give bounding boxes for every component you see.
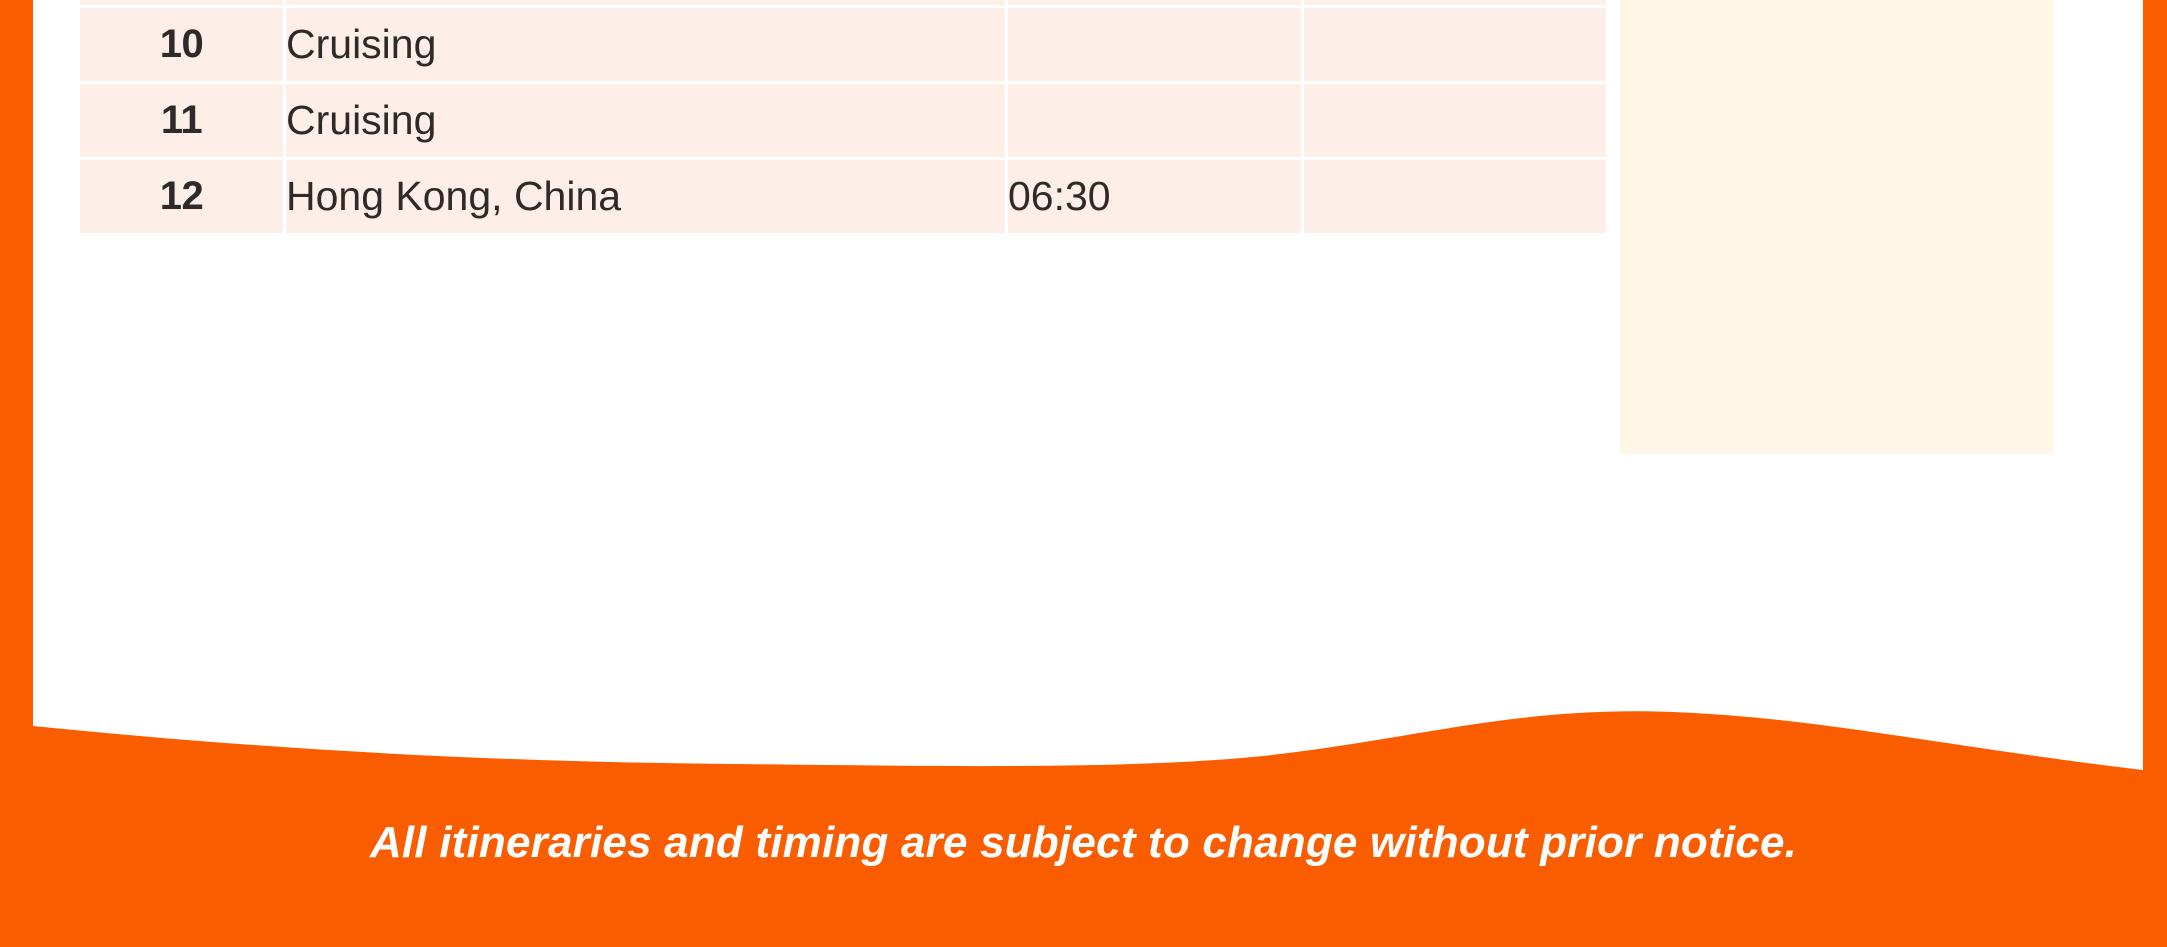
itinerary-table: 7 Kanazawa, Japan 08:00 19:00 8 Cruising… (80, 0, 1606, 233)
table-row[interactable]: 9 Sasebo, Japan 08:00 18:00 (80, 0, 1606, 8)
cell-arrival (1008, 84, 1304, 160)
cell-departure (1304, 8, 1606, 84)
itinerary-disclaimer: All itineraries and timing are subject t… (0, 818, 2167, 868)
cell-day: 11 (80, 84, 286, 160)
cell-arrival: 06:30 (1008, 160, 1304, 233)
table-row[interactable]: 11 Cruising (80, 84, 1606, 160)
cell-arrival: 08:00 (1008, 0, 1304, 8)
cell-departure (1304, 84, 1606, 160)
cell-port: Sasebo, Japan (286, 0, 1008, 8)
cell-arrival (1008, 8, 1304, 84)
table-row[interactable]: 12 Hong Kong, China 06:30 (80, 160, 1606, 233)
cell-port: Cruising (286, 84, 1008, 160)
cell-departure (1304, 160, 1606, 233)
cell-port: Hong Kong, China (286, 160, 1008, 233)
cell-day: 10 (80, 8, 286, 84)
cell-departure: 18:00 (1304, 0, 1606, 8)
cell-day: 12 (80, 160, 286, 233)
side-info-panel (1620, 0, 2053, 454)
page-root: 7 Kanazawa, Japan 08:00 19:00 8 Cruising… (0, 0, 2167, 947)
table-row[interactable]: 10 Cruising (80, 8, 1606, 84)
cell-port: Cruising (286, 8, 1008, 84)
cell-day: 9 (80, 0, 286, 8)
itinerary-table-body: 7 Kanazawa, Japan 08:00 19:00 8 Cruising… (80, 0, 1606, 233)
